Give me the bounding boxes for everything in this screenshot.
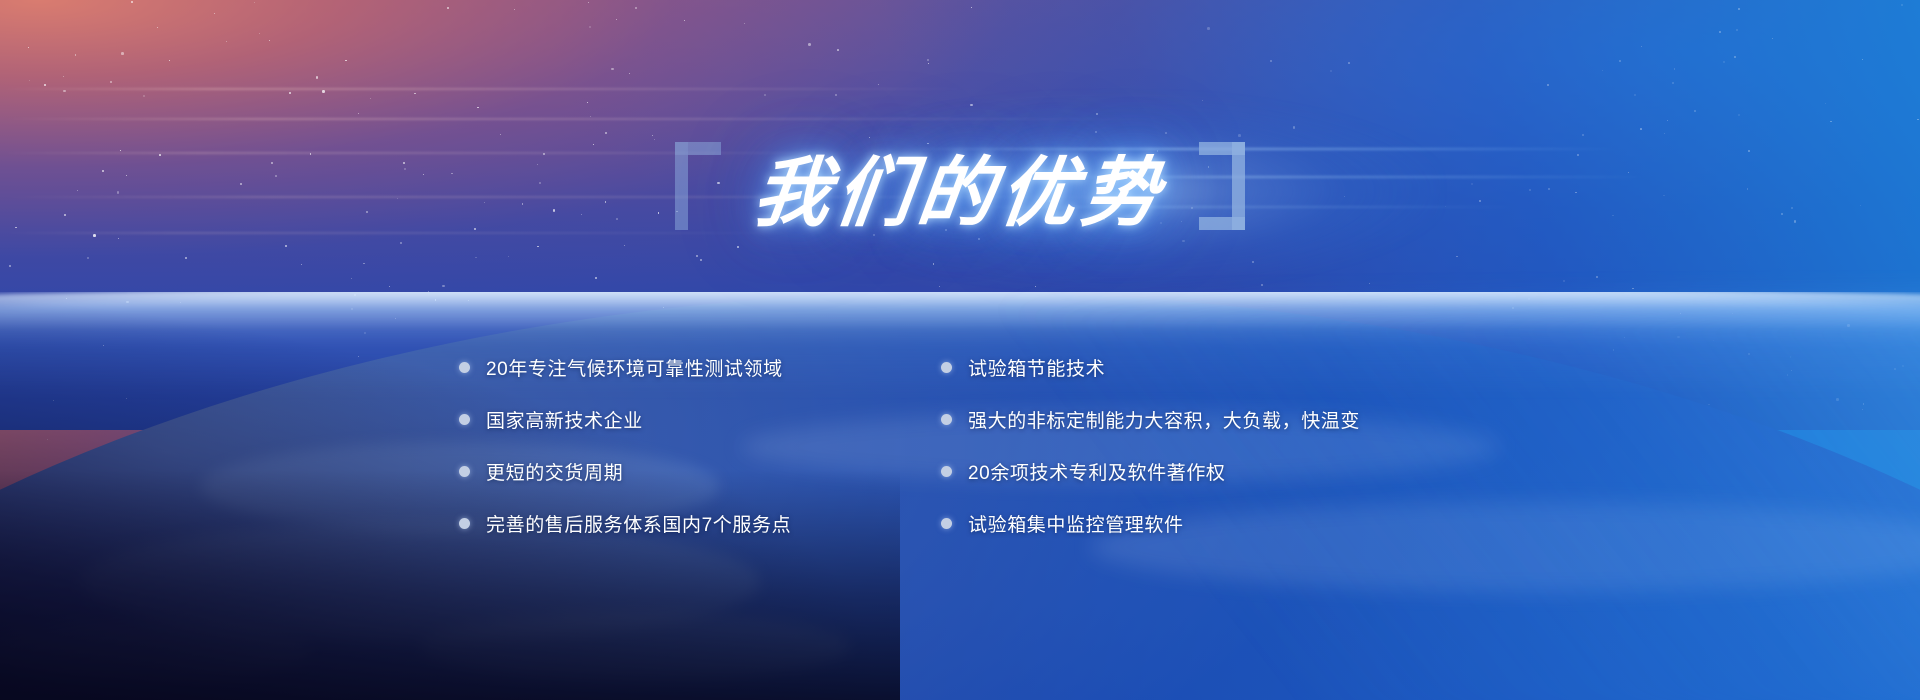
advantages-list: 20年专注气候环境可靠性测试领域 国家高新技术企业 更短的交货周期 完善的售后服… <box>0 352 1920 538</box>
bullet-dot-icon <box>459 466 470 477</box>
bullet-dot-icon <box>459 518 470 529</box>
bullet-dot-icon <box>941 518 952 529</box>
bracket-right-icon <box>1199 142 1245 230</box>
list-item-label: 更短的交货周期 <box>486 458 623 485</box>
list-item: 试验箱节能技术 <box>941 352 1461 382</box>
list-item: 20余项技术专利及软件著作权 <box>941 456 1461 486</box>
bullet-dot-icon <box>459 362 470 373</box>
list-item: 20年专注气候环境可靠性测试领域 <box>459 352 879 382</box>
list-item: 试验箱集中监控管理软件 <box>941 508 1461 538</box>
list-item: 国家高新技术企业 <box>459 404 879 434</box>
list-item-label: 强大的非标定制能力大容积，大负载，快温变 <box>968 406 1360 433</box>
list-item-label: 完善的售后服务体系国内7个服务点 <box>486 510 791 537</box>
list-item: 强大的非标定制能力大容积，大负载，快温变 <box>941 404 1461 434</box>
advantages-column-right: 试验箱节能技术 强大的非标定制能力大容积，大负载，快温变 20余项技术专利及软件… <box>941 352 1461 538</box>
bullet-dot-icon <box>941 414 952 425</box>
section-title-block: 我们的优势 <box>0 128 1920 244</box>
advantages-banner: 我们的优势 20年专注气候环境可靠性测试领域 国家高新技术企业 更短的交货周期 … <box>0 0 1920 700</box>
bullet-dot-icon <box>941 362 952 373</box>
list-item-label: 试验箱节能技术 <box>968 354 1105 381</box>
list-item-label: 20余项技术专利及软件著作权 <box>968 458 1226 485</box>
list-item-label: 国家高新技术企业 <box>486 406 643 433</box>
list-item: 完善的售后服务体系国内7个服务点 <box>459 508 879 538</box>
list-item: 更短的交货周期 <box>459 456 879 486</box>
bracket-left-icon <box>675 142 721 230</box>
list-item-label: 试验箱集中监控管理软件 <box>968 510 1184 537</box>
list-item-label: 20年专注气候环境可靠性测试领域 <box>486 354 783 381</box>
page-title: 我们的优势 <box>742 131 1178 241</box>
bullet-dot-icon <box>941 466 952 477</box>
advantages-column-left: 20年专注气候环境可靠性测试领域 国家高新技术企业 更短的交货周期 完善的售后服… <box>459 352 879 538</box>
bullet-dot-icon <box>459 414 470 425</box>
